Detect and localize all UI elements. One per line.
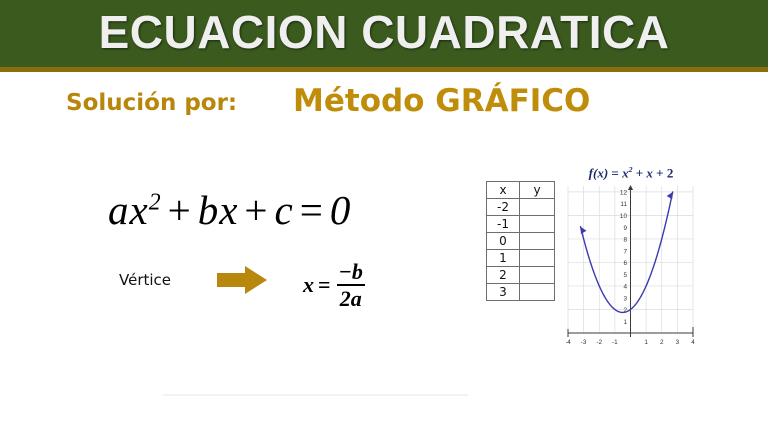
y-tick-label: 5 — [623, 272, 627, 279]
table-row: 3 — [487, 284, 555, 301]
graph-title-plus-2: + — [656, 165, 663, 180]
y-tick-label: 12 — [620, 189, 628, 196]
table-cell-y[interactable] — [520, 284, 555, 301]
table-row: -1 — [487, 216, 555, 233]
page-title: ECUACION CUADRATICA — [0, 5, 768, 59]
vertex-fraction: −b 2a — [336, 260, 366, 310]
x-tick-label: 4 — [691, 339, 695, 346]
banner-divider — [0, 67, 768, 72]
table-cell-x[interactable]: 2 — [487, 267, 520, 284]
table-cell-x[interactable]: -2 — [487, 199, 520, 216]
equation-exponent: 2 — [149, 189, 162, 215]
vertex-denominator: 2a — [337, 284, 365, 310]
x-tick-label: 3 — [676, 339, 680, 346]
y-tick-label: 1 — [623, 319, 627, 326]
subtitle-method: Método GRÁFICO — [293, 83, 590, 119]
title-banner: ECUACION CUADRATICA — [0, 0, 768, 67]
table-cell-y[interactable] — [520, 267, 555, 284]
x-tick-label: -3 — [581, 339, 587, 346]
xy-value-table: xy-2-10123 — [486, 181, 555, 301]
graph-plot-area: 123456789101112-4-3-2-11234 — [566, 182, 696, 355]
bottom-divider — [163, 394, 468, 396]
graph-title-const: 2 — [667, 165, 674, 180]
vertex-numerator: −b — [336, 260, 366, 284]
table-row: -2 — [487, 199, 555, 216]
table-row: 0 — [487, 233, 555, 250]
graph-title-equals: = — [611, 165, 618, 180]
x-tick-label: -4 — [566, 339, 571, 346]
table-cell-x[interactable]: 1 — [487, 250, 520, 267]
equation-plus-2: + — [238, 187, 274, 233]
table-cell-y[interactable] — [520, 250, 555, 267]
vertex-label: Vértice — [119, 271, 171, 289]
equation-equals: = — [294, 187, 330, 233]
y-tick-label: 7 — [623, 248, 627, 255]
equation-rhs: 0 — [330, 187, 352, 233]
vertex-variable: x — [303, 272, 314, 298]
graph-function-title: f(x) = x2 + x + 2 — [566, 165, 696, 181]
y-tick-label: 8 — [623, 237, 627, 244]
subtitle-prefix: Solución por: — [66, 90, 237, 116]
table-cell-y[interactable] — [520, 233, 555, 250]
y-tick-label: 3 — [623, 295, 627, 302]
table-cell-y[interactable] — [520, 199, 555, 216]
table-header-row: xy — [487, 182, 555, 199]
slide-canvas: ECUACION CUADRATICA Solución por: Método… — [0, 0, 768, 432]
x-tick-label: -1 — [612, 339, 618, 346]
table-cell-x[interactable]: 3 — [487, 284, 520, 301]
y-tick-label: 6 — [623, 260, 627, 267]
y-tick-label: 9 — [623, 225, 627, 232]
graph-title-plus-1: + — [636, 165, 643, 180]
equation-plus-1: + — [162, 187, 198, 233]
x-tick-label: -2 — [596, 339, 602, 346]
x-tick-label: 2 — [660, 339, 664, 346]
table-header-y: y — [520, 182, 555, 199]
table-cell-x[interactable]: 0 — [487, 233, 520, 250]
vertex-equals: = — [318, 272, 331, 298]
curve-arrowhead — [667, 192, 673, 199]
quadratic-equation: ax2+bx+c=0 — [108, 186, 351, 234]
table-cell-x[interactable]: -1 — [487, 216, 520, 233]
x-tick-label: 1 — [644, 339, 648, 346]
table-cell-y[interactable] — [520, 216, 555, 233]
y-tick-label: 10 — [620, 213, 628, 220]
parabola-graph: f(x) = x2 + x + 2 123456789101112-4-3-2-… — [566, 165, 696, 355]
y-tick-label: 11 — [620, 201, 627, 208]
equation-term-a: ax — [108, 187, 149, 233]
table-row: 2 — [487, 267, 555, 284]
y-tick-label: 2 — [623, 307, 627, 314]
table-header-x: x — [487, 182, 520, 199]
table-row: 1 — [487, 250, 555, 267]
graph-title-exp: 2 — [629, 165, 633, 174]
equation-term-b: bx — [198, 187, 239, 233]
y-axis-arrowhead — [628, 185, 633, 190]
right-arrow-icon — [217, 266, 267, 294]
graph-title-fx: f(x) — [589, 165, 609, 180]
vertex-formula: x = −b 2a — [303, 260, 366, 310]
equation-term-c: c — [275, 187, 294, 233]
graph-title-x2: x — [646, 165, 653, 180]
y-tick-label: 4 — [623, 284, 627, 291]
